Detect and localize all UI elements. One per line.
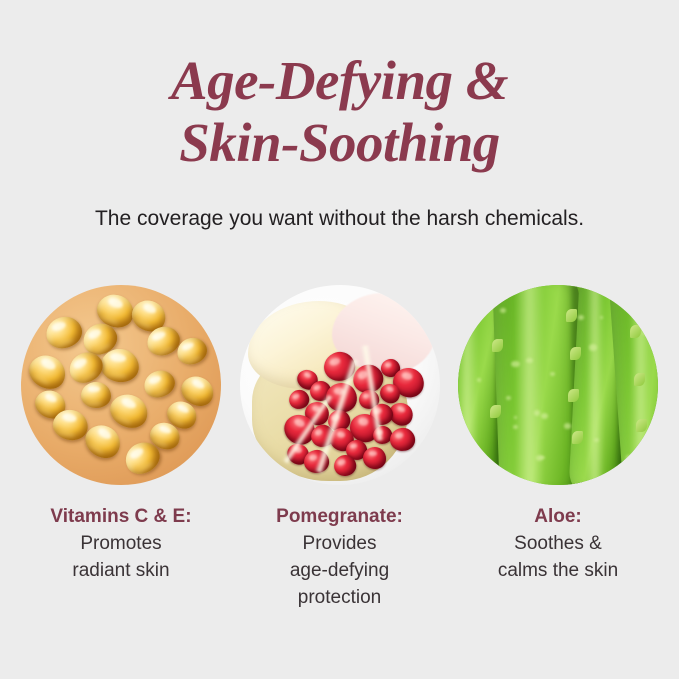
- aloe-leaf-speckle: [511, 361, 520, 368]
- ingredient-columns: Vitamins C & E: Promotes radiant skin Po…: [0, 285, 679, 611]
- aloe-leaf-tooth: [492, 339, 503, 352]
- page-title: Age-Defying & Skin-Soothing: [0, 50, 679, 174]
- aloe-leaf-tooth: [570, 347, 581, 360]
- ingredient-body-line: Promotes: [50, 530, 191, 557]
- headline-line-2: Skin-Soothing: [0, 112, 679, 174]
- ingredient-title: Aloe:: [498, 503, 618, 530]
- aloe-leaf-speckle: [564, 423, 571, 428]
- aloe-leaf-speckle: [505, 472, 510, 476]
- aloe-leaf-tooth: [636, 419, 647, 432]
- ingredient-body-line: Provides: [276, 530, 403, 557]
- ingredient-body-line: protection: [276, 584, 403, 611]
- product-benefits-infographic: Age-Defying & Skin-Soothing The coverage…: [0, 0, 679, 679]
- aloe-blade-highlight: [586, 285, 604, 485]
- aloe-leaf-speckle: [578, 315, 584, 320]
- ingredient-body-line: Soothes &: [498, 530, 618, 557]
- page-subtitle: The coverage you want without the harsh …: [0, 205, 679, 233]
- ingredient-body-line: calms the skin: [498, 557, 618, 584]
- aloe-leaf-speckle: [642, 332, 645, 335]
- headline-line-1: Age-Defying &: [0, 50, 679, 112]
- ingredient-column-vitamins: Vitamins C & E: Promotes radiant skin: [20, 285, 222, 611]
- aloe-leaf-tooth: [634, 373, 645, 386]
- pomegranate-fruit: [240, 285, 440, 485]
- ingredient-title: Vitamins C & E:: [50, 503, 191, 530]
- vitamin-capsules-photo: [21, 285, 221, 485]
- aloe-leaf-tooth: [566, 309, 577, 322]
- aloe-leaf-speckle: [600, 316, 603, 319]
- aloe-leaf-tooth: [572, 431, 583, 444]
- ingredient-title: Pomegranate:: [276, 503, 403, 530]
- aloe-leaf-tooth: [568, 389, 579, 402]
- ingredient-body-line: age-defying: [276, 557, 403, 584]
- aloe-leaf-tooth: [490, 405, 501, 418]
- aloe-leaf-speckle: [541, 413, 549, 419]
- ingredient-caption-aloe: Aloe: Soothes & calms the skin: [498, 503, 618, 584]
- ingredient-column-pomegranate: Pomegranate: Provides age-defying protec…: [239, 285, 441, 611]
- aloe-blade-highlight: [458, 285, 478, 485]
- aloe-leaf-speckle: [500, 308, 506, 313]
- aloe-leaf-tooth: [630, 325, 641, 338]
- aloe-leaf-speckle: [477, 378, 482, 382]
- ingredient-caption-pomegranate: Pomegranate: Provides age-defying protec…: [276, 503, 403, 611]
- aloe-leaf-speckle: [550, 372, 555, 376]
- ingredient-caption-vitamins: Vitamins C & E: Promotes radiant skin: [50, 503, 191, 584]
- pomegranate-photo: [240, 285, 440, 485]
- aloe-leaves-photo: [458, 285, 658, 485]
- ingredient-column-aloe: Aloe: Soothes & calms the skin: [457, 285, 659, 611]
- aloe-leaf-speckle: [594, 438, 599, 442]
- ingredient-body-line: radiant skin: [50, 557, 191, 584]
- aloe-leaf-speckle: [514, 416, 517, 419]
